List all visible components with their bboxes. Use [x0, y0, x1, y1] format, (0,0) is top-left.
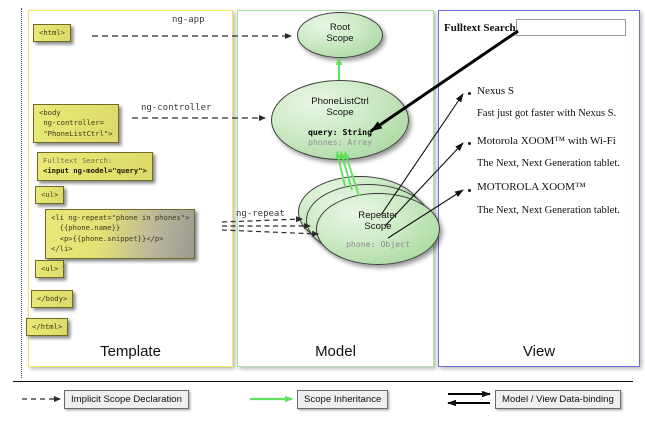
view-search-label: Fulltext Search: — [444, 22, 519, 34]
list-bullet — [468, 142, 471, 145]
list-bullet — [468, 189, 471, 192]
scope-root-title-1: Root — [298, 22, 382, 33]
scope-phonelistctrl: PhoneListCtrl Scope query: String phones… — [271, 80, 409, 160]
code-li-line-2: {{phone.name}} — [51, 223, 120, 232]
phone-snippet: The Next, Next Generation tablet. — [477, 205, 620, 216]
code-search-label: Fulltext Search: — [43, 156, 112, 165]
scope-repeater-title-2: Scope — [317, 221, 439, 232]
legend-item-data-binding: Model / View Data-binding — [495, 390, 621, 409]
code-box-ul-close: <ul> — [35, 260, 64, 278]
scope-ctrl-prop-query: query: String — [308, 127, 372, 137]
code-li-line-1: <li ng-repeat="phone in phones"> — [51, 213, 189, 222]
scope-root-title-2: Scope — [298, 33, 382, 44]
panel-model-label: Model — [238, 343, 433, 360]
phone-snippet: The Next, Next Generation tablet. — [477, 158, 620, 169]
code-li-line-3: <p>{{phone.snippet}}</p> — [51, 234, 164, 243]
code-box-body-close: </body> — [31, 290, 73, 308]
scope-ctrl-title-1: PhoneListCtrl — [272, 96, 408, 107]
search-input[interactable] — [516, 19, 626, 36]
phone-name: MOTOROLA XOOM™ — [477, 181, 586, 193]
diagram-canvas: Template Model View <html> <body ng-cont… — [0, 0, 645, 425]
code-box-ul-open: <ul> — [35, 186, 64, 204]
list-bullet — [468, 92, 471, 95]
scope-root: Root Scope — [297, 12, 383, 58]
scope-repeater: Repeater Scope phone: Object — [316, 193, 440, 265]
phone-name: Motorola XOOM™ with Wi-Fi — [477, 135, 616, 147]
legend-item-scope-inheritance: Scope Inheritance — [297, 390, 388, 409]
scope-repeater-prop-phone: phone: Object — [346, 239, 410, 249]
code-li-line-4: </li> — [51, 244, 73, 253]
scope-ctrl-title-2: Scope — [272, 107, 408, 118]
panel-view-label: View — [439, 343, 639, 360]
code-box-search-input: Fulltext Search: <input ng-model="query"… — [37, 152, 153, 181]
phone-name: Nexus S — [477, 85, 514, 97]
legend-item-implicit-scope: Implicit Scope Declaration — [64, 390, 189, 409]
code-box-li-repeat: <li ng-repeat="phone in phones"> {{phone… — [45, 209, 195, 259]
phone-snippet: Fast just got faster with Nexus S. — [477, 108, 616, 119]
code-box-html-open: <html> — [33, 24, 71, 42]
scope-ctrl-prop-phones: phones: Array — [308, 137, 372, 147]
legend-divider — [13, 381, 633, 382]
code-box-html-close: </html> — [26, 318, 68, 336]
code-box-body-open: <body ng-controller= "PhoneListCtrl"> — [33, 104, 119, 143]
canvas-left-edge — [21, 8, 23, 378]
panel-template-label: Template — [29, 343, 232, 360]
code-search-input-tag: <input ng-model="query"> — [43, 166, 147, 175]
scope-repeater-title-1: Repeater — [317, 210, 439, 221]
